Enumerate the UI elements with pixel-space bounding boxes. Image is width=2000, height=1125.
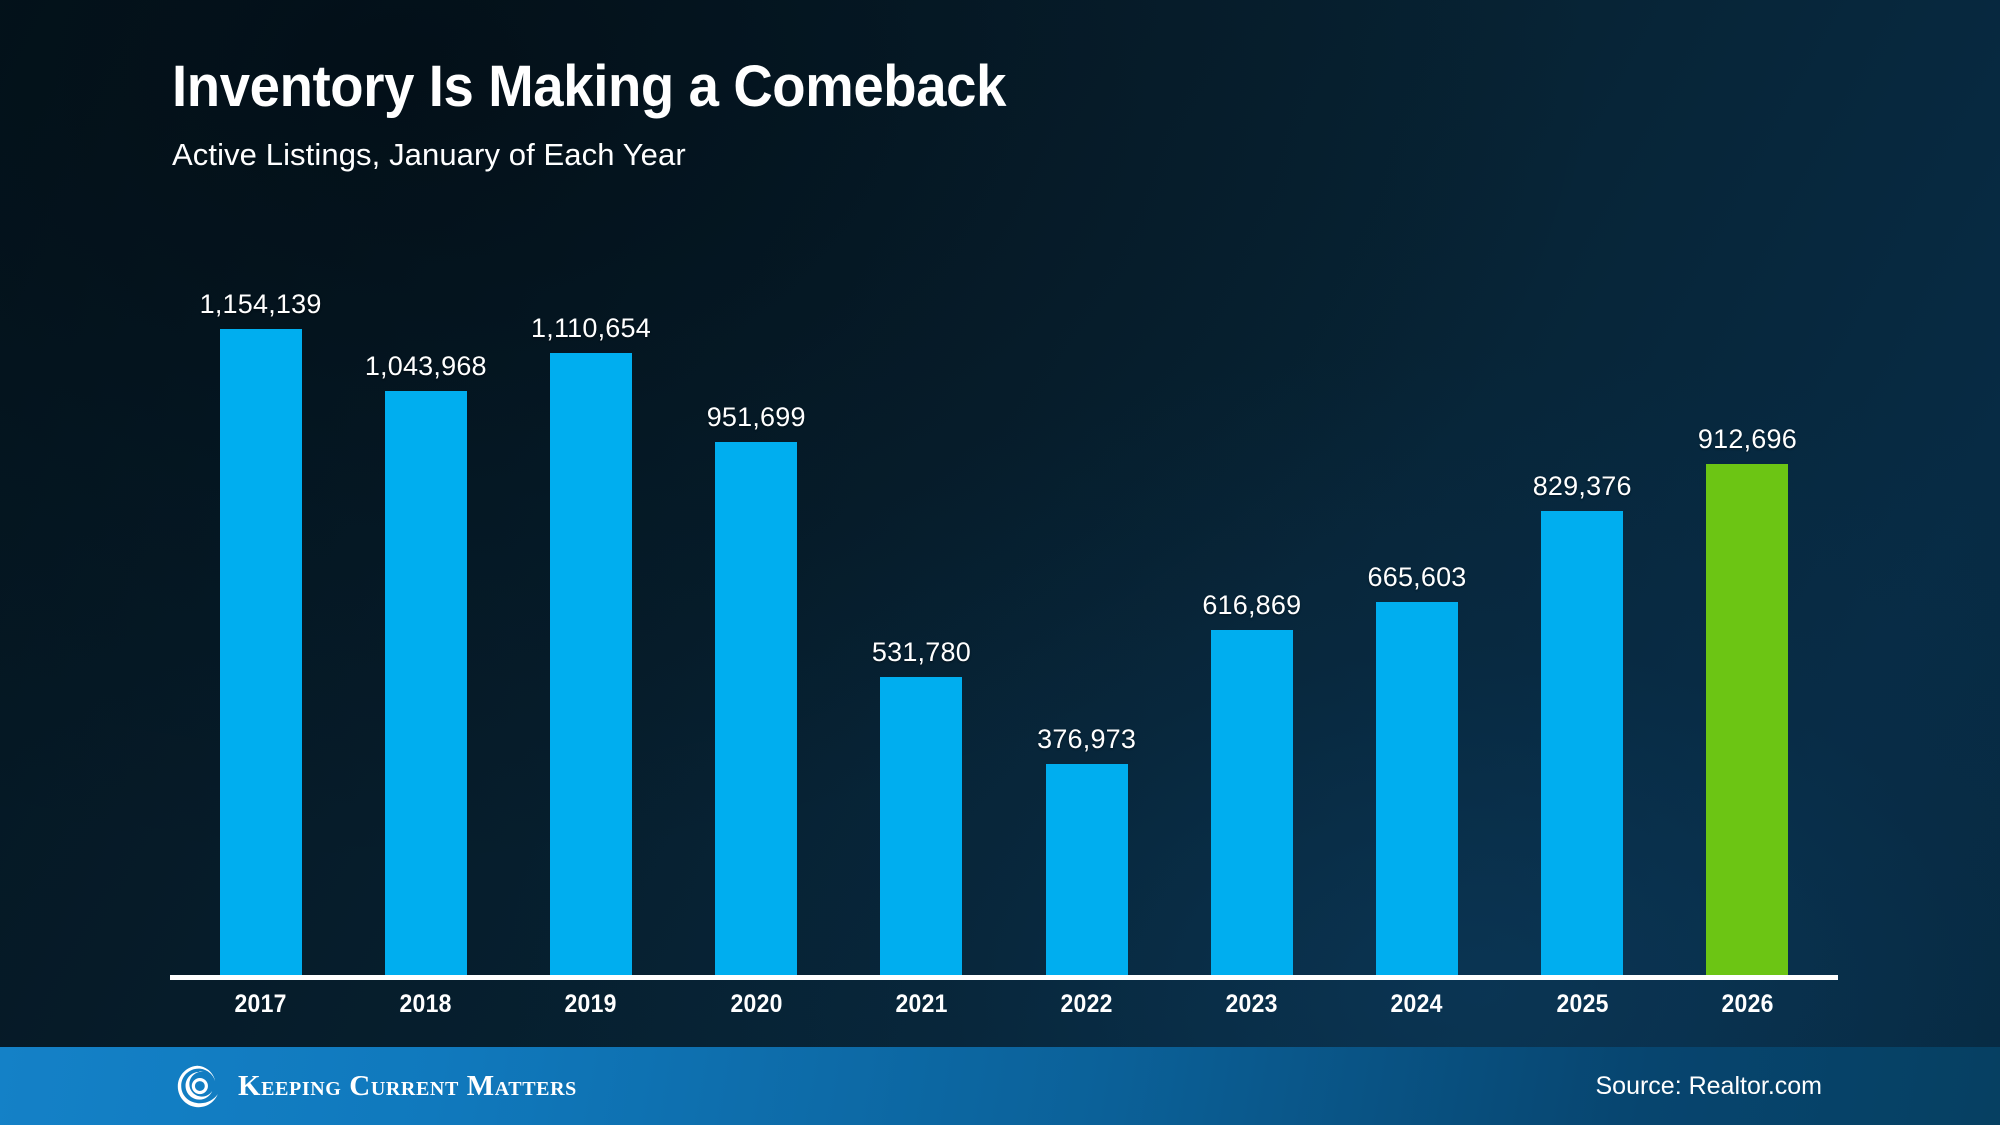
brand-name: Keeping Current Matters — [238, 1070, 577, 1103]
x-axis-label-2017: 2017 — [185, 990, 337, 1019]
bar-value-label: 616,869 — [1202, 590, 1301, 621]
bar-2017 — [220, 329, 302, 975]
x-axis-line — [170, 975, 1838, 980]
bar-value-label: 951,699 — [707, 402, 806, 433]
page-subtitle: Active Listings, January of Each Year — [172, 137, 1059, 173]
bar-value-label: 912,696 — [1698, 424, 1797, 455]
bar-group: 1,110,654 — [508, 285, 673, 975]
x-axis-label-2025: 2025 — [1506, 990, 1658, 1019]
bar-group: 531,780 — [839, 285, 1004, 975]
bar-2024 — [1376, 602, 1458, 975]
bar-value-label: 1,110,654 — [531, 313, 651, 344]
bar-group: 376,973 — [1004, 285, 1169, 975]
x-axis-label-2024: 2024 — [1341, 990, 1493, 1019]
x-axis-label-2020: 2020 — [680, 990, 832, 1019]
bar-group: 829,376 — [1500, 285, 1665, 975]
bar-group: 616,869 — [1169, 285, 1334, 975]
bar-value-label: 665,603 — [1368, 562, 1467, 593]
x-axis-label-2018: 2018 — [350, 990, 502, 1019]
chart-slide: Inventory Is Making a Comeback Active Li… — [0, 0, 2000, 1125]
brand-block: Keeping Current Matters — [176, 1064, 577, 1109]
x-axis-label-2026: 2026 — [1671, 990, 1823, 1019]
spiral-circle-logo-icon — [176, 1064, 221, 1109]
bar-series: 1,154,1391,043,9681,110,654951,699531,78… — [178, 285, 1830, 975]
x-axis-label-2021: 2021 — [845, 990, 997, 1019]
bar-value-label: 1,043,968 — [365, 351, 487, 382]
bar-2023 — [1211, 630, 1293, 975]
bar-value-label: 1,154,139 — [200, 289, 322, 320]
bar-value-label: 531,780 — [872, 637, 971, 668]
bar-chart-plot-area: 1,154,1391,043,9681,110,654951,699531,78… — [178, 285, 1830, 975]
bar-value-label: 829,376 — [1533, 471, 1632, 502]
bar-group: 1,043,968 — [343, 285, 508, 975]
x-axis-label-2022: 2022 — [1011, 990, 1163, 1019]
bar-group: 1,154,139 — [178, 285, 343, 975]
bar-2019 — [550, 353, 632, 975]
x-axis-label-2023: 2023 — [1176, 990, 1328, 1019]
bar-group: 951,699 — [674, 285, 839, 975]
bar-value-label: 376,973 — [1037, 724, 1136, 755]
bar-group: 665,603 — [1334, 285, 1499, 975]
bar-2025 — [1541, 511, 1623, 975]
bar-2018 — [385, 391, 467, 975]
bar-2022 — [1046, 764, 1128, 975]
bar-2020 — [715, 442, 797, 975]
x-axis-label-2019: 2019 — [515, 990, 667, 1019]
bar-2026 — [1706, 464, 1788, 975]
source-attribution: Source: Realtor.com — [1596, 1072, 1823, 1101]
footer-bar: Keeping Current Matters Source: Realtor.… — [0, 1047, 2000, 1125]
x-axis-tick-labels: 2017201820192020202120222023202420252026 — [178, 990, 1830, 1019]
bar-group: 912,696 — [1665, 285, 1830, 975]
page-title: Inventory Is Making a Comeback — [172, 56, 1006, 117]
bar-2021 — [880, 677, 962, 975]
heading-block: Inventory Is Making a Comeback Active Li… — [172, 56, 1059, 173]
